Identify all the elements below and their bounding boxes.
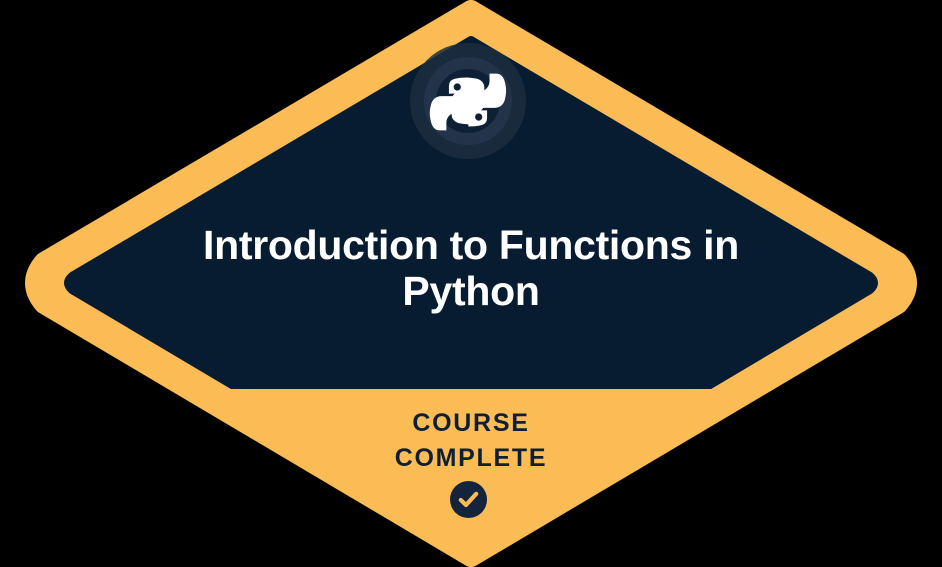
course-title: Introduction to Functions in Python (146, 222, 796, 314)
status-label-course: COURSE (271, 406, 671, 441)
python-logo-icon (408, 42, 528, 162)
course-status-block: COURSE COMPLETE (271, 406, 671, 476)
python-logo (408, 42, 528, 162)
check-circle-glyph (450, 481, 487, 518)
status-label-complete: COMPLETE (271, 441, 671, 476)
badge-canvas: Introduction to Functions in Python COUR… (0, 0, 942, 567)
check-circle-icon (450, 481, 487, 518)
